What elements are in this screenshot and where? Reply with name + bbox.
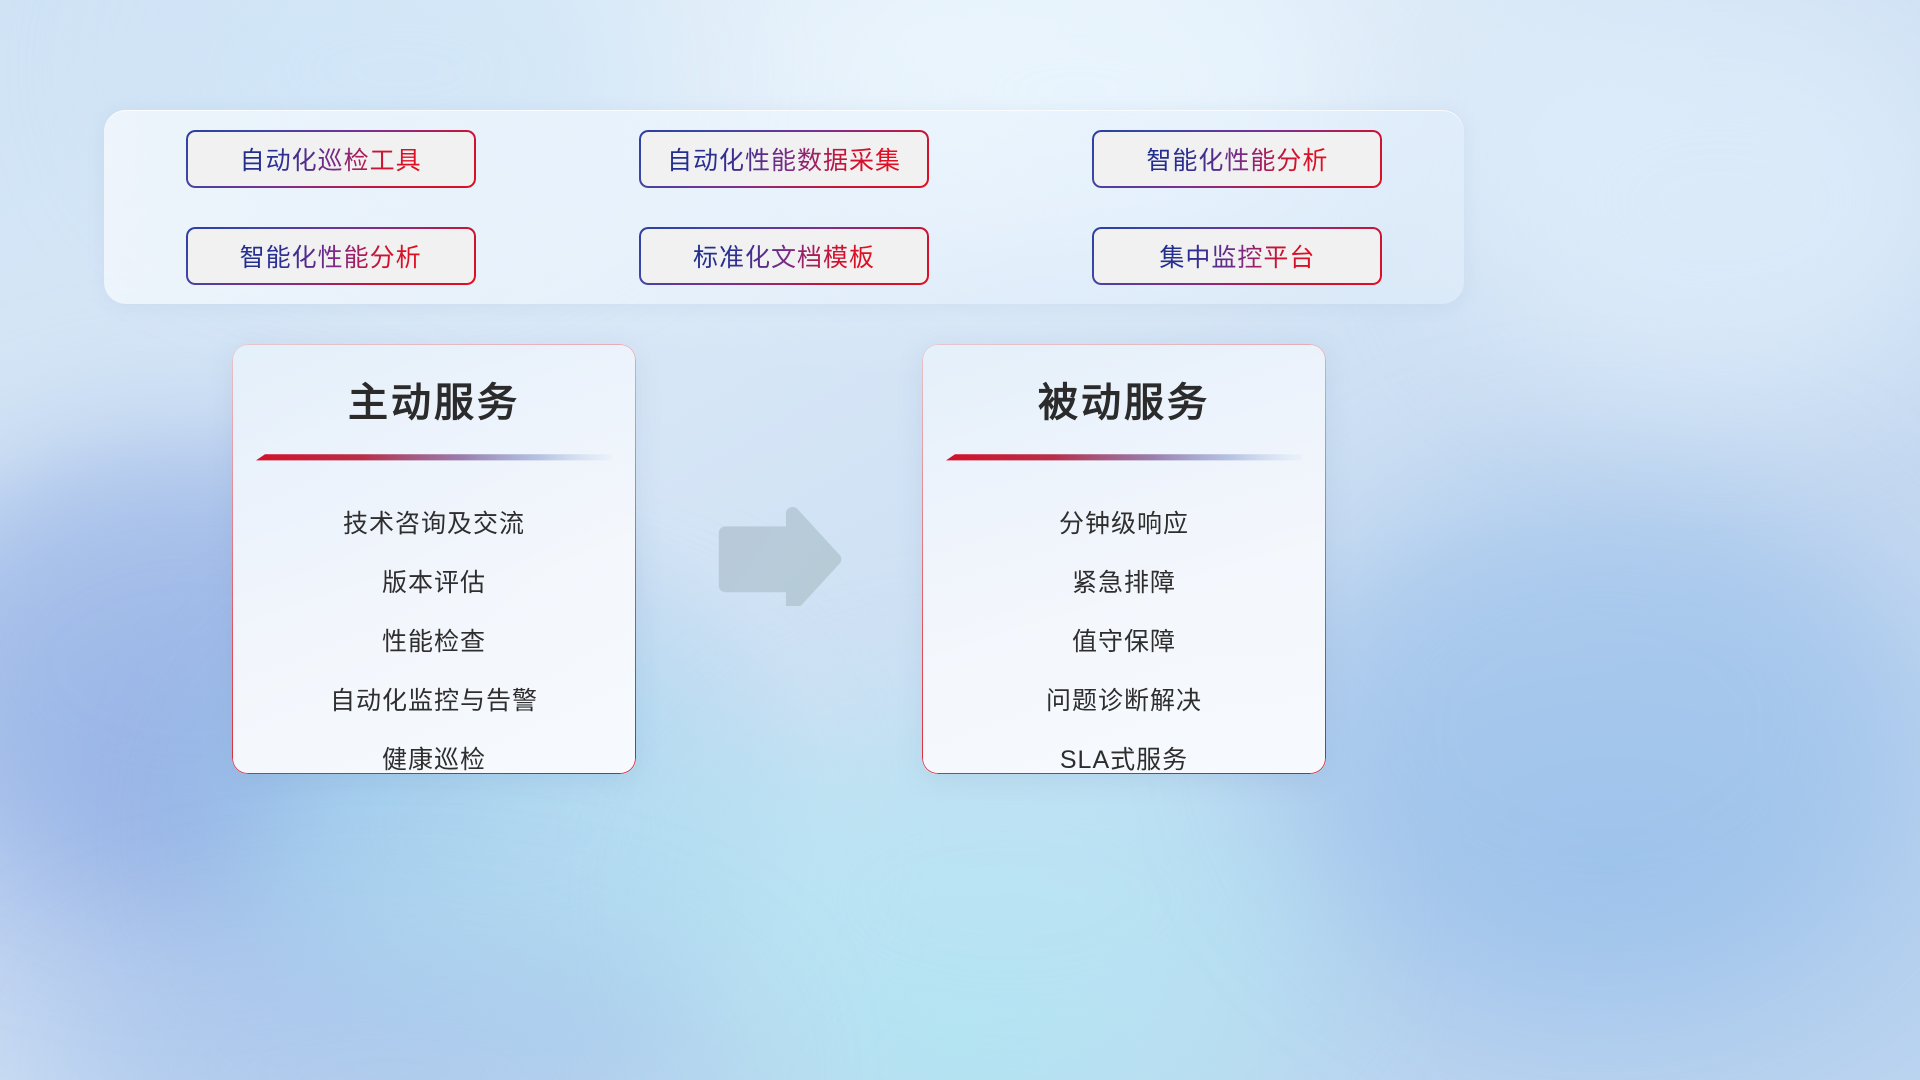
service-item-list: 技术咨询及交流 版本评估 性能检查 自动化监控与告警 健康巡检 xyxy=(232,495,636,774)
service-item-list: 分钟级响应 紧急排障 值守保障 问题诊断解决 SLA式服务 xyxy=(922,495,1326,774)
service-item: SLA式服务 xyxy=(922,731,1326,774)
capability-pill-label: 集中监控平台 xyxy=(1159,238,1315,274)
background-blob xyxy=(1460,0,1920,400)
capability-pill-label: 自动化巡检工具 xyxy=(240,141,422,177)
service-item: 版本评估 xyxy=(232,554,636,613)
service-item: 自动化监控与告警 xyxy=(232,672,636,731)
capability-pill[interactable]: 自动化性能数据采集 xyxy=(639,130,929,188)
arrow-right-icon xyxy=(713,502,851,606)
service-item: 分钟级响应 xyxy=(922,495,1326,554)
capability-panel: 自动化巡检工具 自动化性能数据采集 智能化性能分析 智能化性能分析 标准化文档模… xyxy=(104,110,1464,304)
service-item: 技术咨询及交流 xyxy=(232,495,636,554)
service-item: 值守保障 xyxy=(922,613,1326,672)
background-blob xyxy=(40,940,740,1080)
capability-pill-label: 标准化文档模板 xyxy=(693,238,875,274)
capability-pill[interactable]: 集中监控平台 xyxy=(1092,227,1382,285)
service-card-passive: 被动服务 分钟级响应 紧急排障 值守保障 问题诊断解决 xyxy=(922,344,1326,774)
capability-pill-label: 自动化性能数据采集 xyxy=(667,141,901,177)
service-item: 问题诊断解决 xyxy=(922,672,1326,731)
service-item: 性能检查 xyxy=(232,613,636,672)
service-card-active: 主动服务 技术咨询及交流 版本评估 性能检查 自动化监控与告警 xyxy=(232,344,636,774)
card-title: 被动服务 xyxy=(922,370,1326,428)
capability-pill[interactable]: 自动化巡检工具 xyxy=(186,130,476,188)
capability-pill[interactable]: 智能化性能分析 xyxy=(1092,130,1382,188)
card-title: 主动服务 xyxy=(232,370,636,428)
capability-pill-label: 智能化性能分析 xyxy=(1146,141,1328,177)
capability-pill[interactable]: 智能化性能分析 xyxy=(186,227,476,285)
capability-pill[interactable]: 标准化文档模板 xyxy=(639,227,929,285)
service-item: 紧急排障 xyxy=(922,554,1326,613)
title-divider xyxy=(256,454,612,461)
slide-canvas: 自动化巡检工具 自动化性能数据采集 智能化性能分析 智能化性能分析 标准化文档模… xyxy=(0,0,1920,1080)
background-blob xyxy=(1280,470,1920,990)
capability-pill-label: 智能化性能分析 xyxy=(240,238,422,274)
service-item: 健康巡检 xyxy=(232,731,636,774)
title-divider xyxy=(946,454,1302,461)
